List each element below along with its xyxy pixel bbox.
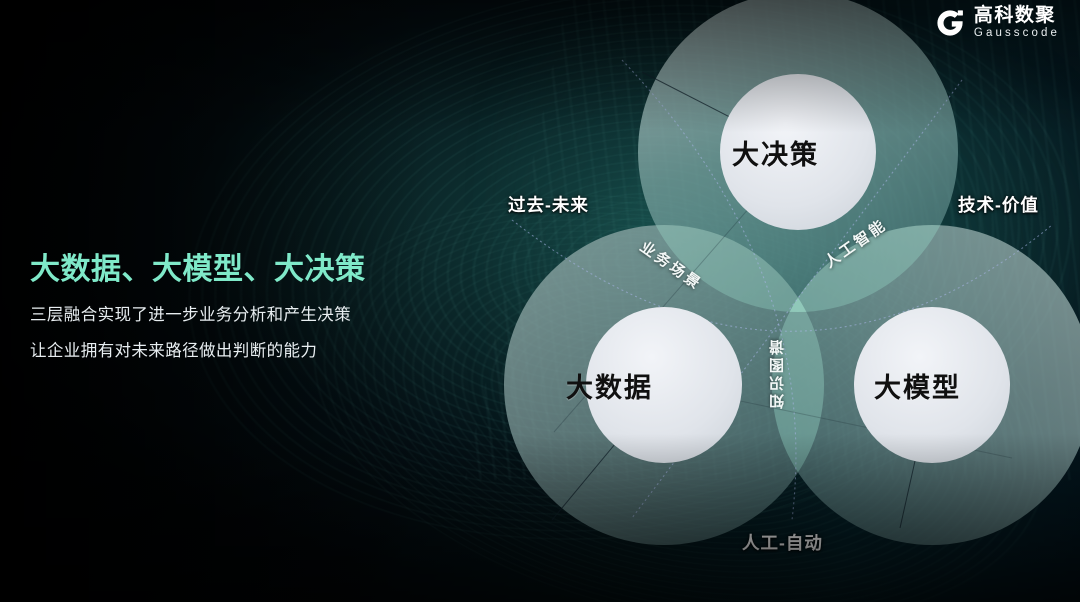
gausscode-logo-icon xyxy=(935,8,965,38)
logo-wordmark: 高科数聚 Gausscode xyxy=(974,6,1060,40)
brand-logo: 高科数聚 Gausscode xyxy=(935,6,1060,40)
logo-text-en: Gausscode xyxy=(974,28,1060,40)
logo-text-cn: 高科数聚 xyxy=(974,6,1060,25)
subtitle-line-1: 三层融合实现了进一步业务分析和产生决策 xyxy=(30,304,450,328)
slide-root: 大决策 大数据 大模型 业务场景 人工智能 知识图谱 过去-未来 技术-价值 人… xyxy=(0,0,1080,602)
page-title: 大数据、大模型、大决策 xyxy=(30,252,450,288)
headline-block: 大数据、大模型、大决策 三层融合实现了进一步业务分析和产生决策 让企业拥有对未来… xyxy=(30,252,450,376)
subtitle-line-2: 让企业拥有对未来路径做出判断的能力 xyxy=(30,340,450,364)
